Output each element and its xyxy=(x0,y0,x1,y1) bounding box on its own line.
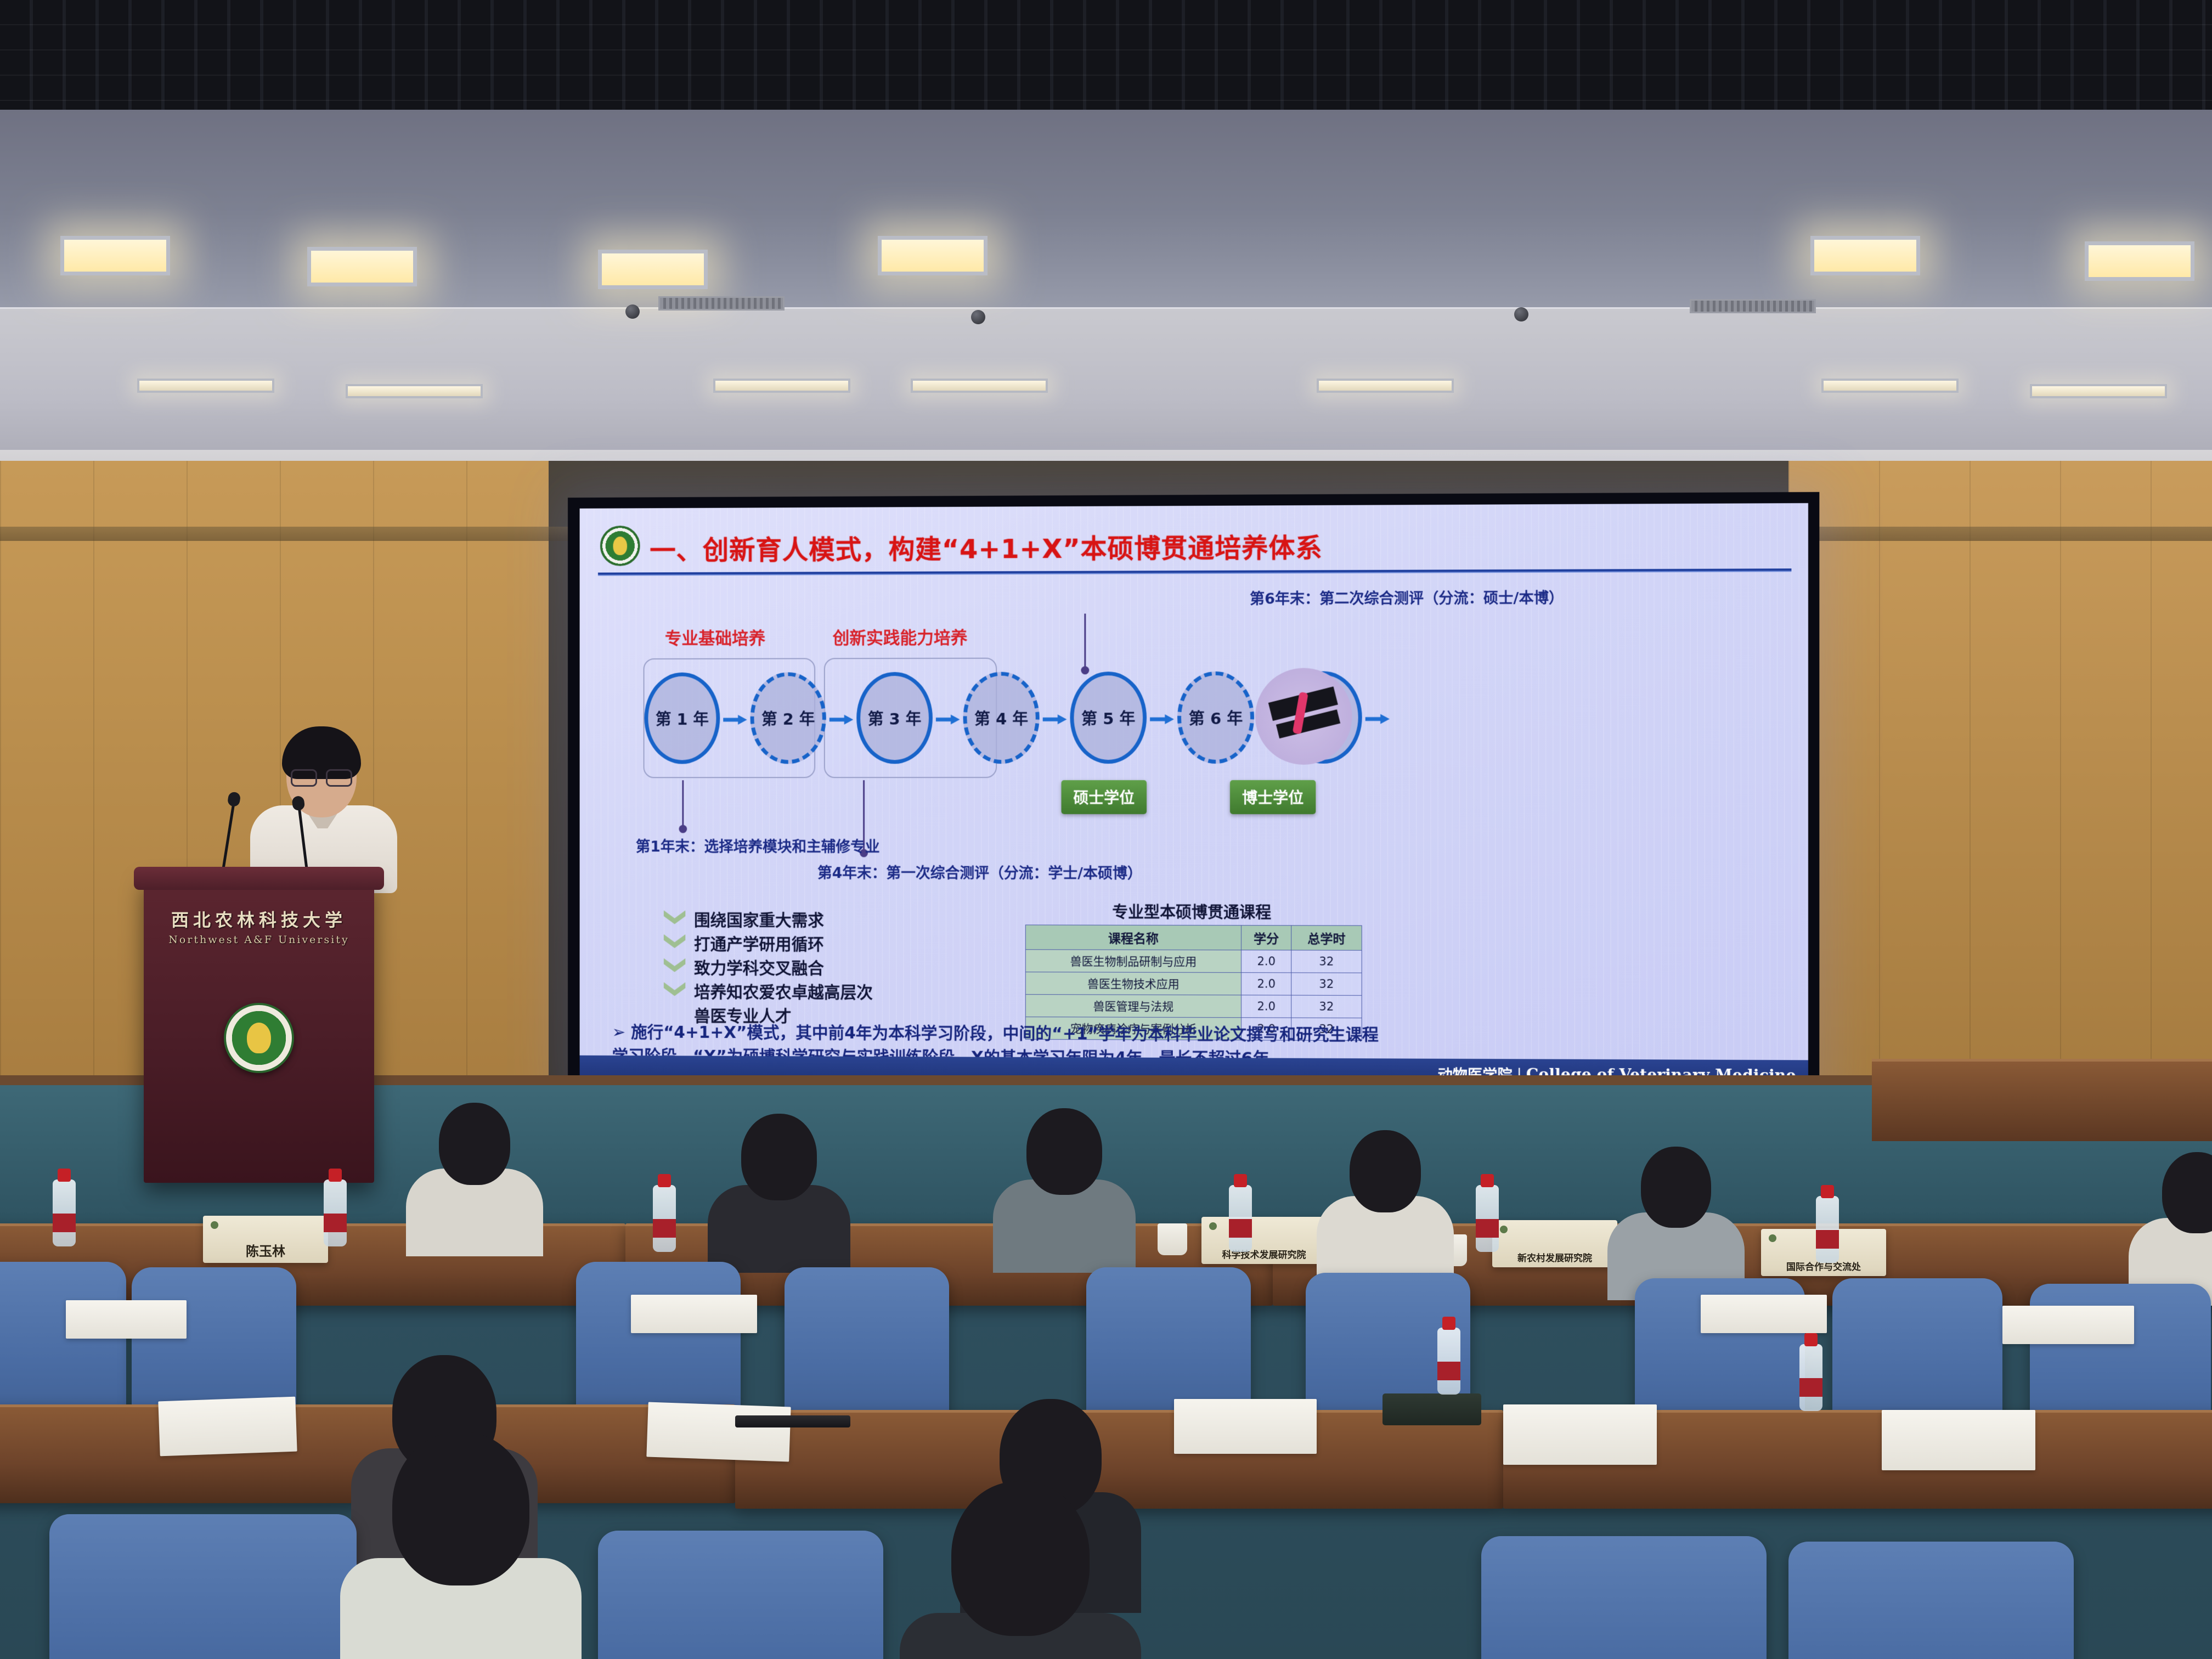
timeline-year-5: 第 5 年 xyxy=(1070,672,1147,764)
nameplate: 科学技术发展研究院 xyxy=(1201,1217,1327,1264)
bullet-marker-icon: ➢ xyxy=(612,1023,626,1042)
slide-title: 一、创新育人模式，构建“4+1+X”本硕博贯通培养体系 xyxy=(650,526,1322,567)
cell-hours: 32 xyxy=(1291,995,1362,1018)
bullet-text: 培养知农爱农卓越高层次 xyxy=(694,979,873,1003)
podium-university-en: Northwest A&F University xyxy=(158,934,360,946)
chair xyxy=(598,1531,883,1659)
bullet-text: 围绕国家重大需求 xyxy=(694,907,824,931)
podium: 西北农林科技大学 Northwest A&F University xyxy=(144,876,374,1183)
timeline-arrow-icon xyxy=(1043,714,1067,724)
handout-paper xyxy=(158,1397,297,1457)
glasses-icon xyxy=(291,769,352,785)
col-credits: 学分 xyxy=(1242,926,1291,950)
list-item: 培养知农爱农卓越高层次 xyxy=(664,978,873,1003)
timeline-year-2: 第 2 年 xyxy=(751,672,826,764)
handout-paper xyxy=(2002,1306,2134,1344)
col-course-name: 课程名称 xyxy=(1025,925,1242,950)
timeline-arrow-icon xyxy=(936,715,960,725)
person-head xyxy=(1026,1108,1102,1195)
timeline-year-4: 第 4 年 xyxy=(963,672,1040,764)
podium-sign: 西北农林科技大学 Northwest A&F University xyxy=(158,906,360,946)
handout-paper xyxy=(1174,1399,1317,1454)
strip-light-icon xyxy=(2030,384,2167,398)
chevron-down-icon xyxy=(664,910,685,927)
ceiling-upper xyxy=(0,110,2212,340)
timeline-year-3: 第 3 年 xyxy=(856,672,933,764)
bullet-list: 围绕国家重大需求 打通产学研用循环 致力学科交叉融合 培养知农爱农卓越高层次 xyxy=(664,906,873,1027)
year-label: 第 3 年 xyxy=(868,707,921,730)
graduation-cap-icon xyxy=(1255,668,1352,765)
header-divider xyxy=(598,568,1791,575)
note-year1: 第1年末：选择培养模块和主辅修专业 xyxy=(636,834,880,856)
status-badge-doctor: 博士学位 xyxy=(1230,780,1316,814)
audience-person xyxy=(2129,1147,2212,1289)
audience-person-foreground xyxy=(900,1476,1141,1659)
cell-course-name: 兽医管理与法规 xyxy=(1025,995,1242,1018)
bullet-text: 打通产学研用循环 xyxy=(694,930,824,955)
timeline-arrow-icon xyxy=(1365,714,1390,724)
ceiling-sensor-icon xyxy=(1514,307,1528,321)
status-badge-master: 硕士学位 xyxy=(1062,780,1147,814)
note-year6: 第6年末：第二次综合测评（分流：硕士/本博） xyxy=(1250,586,1564,608)
handout-paper xyxy=(1882,1410,2035,1470)
chair xyxy=(1788,1542,2074,1659)
strip-light-icon xyxy=(1821,379,1959,393)
ceiling-sensor-icon xyxy=(625,304,640,319)
ceiling-vent-icon xyxy=(1690,299,1816,313)
ceiling-light-icon xyxy=(598,250,708,289)
paper-cup-icon xyxy=(1158,1223,1187,1255)
bullet-text: 致力学科交叉融合 xyxy=(694,955,824,979)
nameplate: 新农村发展研究院 xyxy=(1492,1220,1617,1267)
side-table xyxy=(1872,1059,2212,1141)
water-bottle-icon xyxy=(653,1185,676,1252)
list-item: 打通产学研用循环 xyxy=(664,930,873,955)
presentation-screen: 一、创新育人模式，构建“4+1+X”本硕博贯通培养体系 第6年末：第二次综合测评… xyxy=(568,492,1819,1105)
laptop-icon xyxy=(735,1415,850,1427)
person-head xyxy=(392,1432,529,1585)
timeline-year-1: 第 1 年 xyxy=(645,673,720,764)
water-bottle-icon xyxy=(1816,1196,1839,1263)
nameplate-text: 陈玉林 xyxy=(246,1240,285,1260)
ceiling-dark-grid xyxy=(0,0,2212,126)
person-head xyxy=(1350,1130,1421,1212)
phase-label-2: 创新实践能力培养 xyxy=(833,624,968,648)
strip-light-icon xyxy=(713,379,850,393)
col-hours: 总学时 xyxy=(1291,926,1362,950)
year-label: 第 5 年 xyxy=(1081,706,1135,729)
podium-university-cn: 西北农林科技大学 xyxy=(158,906,360,932)
audience-person xyxy=(406,1097,543,1251)
strip-light-icon xyxy=(911,379,1048,393)
timeline-arrow-icon xyxy=(830,715,854,725)
university-emblem-icon xyxy=(600,526,640,566)
timeline: 第 1 年 第 2 年 第 3 年 第 4 年 第 5 年 第 6 年 第 9 … xyxy=(645,671,1353,770)
nameplate-text: 新农村发展研究院 xyxy=(1517,1250,1592,1264)
ceiling-light-icon xyxy=(307,247,417,286)
table-row: 兽医生物制品研制与应用 2.0 32 xyxy=(1025,950,1362,973)
nameplate: 陈玉林 xyxy=(203,1216,328,1263)
cell-course-name: 兽医生物制品研制与应用 xyxy=(1025,950,1242,973)
slide-header: 一、创新育人模式，构建“4+1+X”本硕博贯通培养体系 xyxy=(594,511,1793,577)
person-head xyxy=(2162,1152,2212,1233)
paragraph-line-1: 施行“4+1+X”模式，其中前4年为本科学习阶段，中间的“+1”学年为本科毕业论… xyxy=(631,1023,1379,1045)
table-title: 专业型本硕博贯通课程 xyxy=(1039,900,1346,923)
water-bottle-icon xyxy=(324,1180,347,1246)
wall-right-wood xyxy=(1788,461,2212,1092)
list-item: 致力学科交叉融合 xyxy=(664,955,873,979)
conference-hall-scene: 一、创新育人模式，构建“4+1+X”本硕博贯通培养体系 第6年末：第二次综合测评… xyxy=(0,0,2212,1659)
notebook-icon xyxy=(1383,1393,1481,1425)
ceiling-vent-icon xyxy=(658,296,785,311)
chevron-down-icon xyxy=(664,982,685,998)
audience-person xyxy=(708,1108,850,1262)
timeline-arrow-icon xyxy=(723,715,747,725)
ceiling-light-icon xyxy=(2085,241,2194,281)
water-bottle-icon xyxy=(1476,1185,1499,1252)
handout-paper xyxy=(1503,1404,1657,1465)
speaker-person xyxy=(247,723,400,888)
handout-paper xyxy=(631,1295,757,1333)
person-head xyxy=(951,1481,1090,1636)
ceiling-light-icon xyxy=(1810,236,1920,275)
chevron-down-icon xyxy=(664,934,685,951)
water-bottle-icon xyxy=(1799,1344,1822,1411)
water-bottle-icon xyxy=(1229,1185,1252,1252)
year-label: 第 6 年 xyxy=(1189,706,1243,729)
water-bottle-icon xyxy=(53,1180,76,1246)
podium-top xyxy=(134,867,384,890)
table-row: 兽医生物技术应用 2.0 32 xyxy=(1025,972,1362,996)
strip-light-icon xyxy=(137,379,274,393)
chair xyxy=(1481,1536,1767,1659)
strip-light-icon xyxy=(346,384,483,398)
note-year4: 第4年末：第一次综合测评（分流：学士/本硕博） xyxy=(817,861,1142,883)
chair xyxy=(49,1514,357,1659)
chevron-down-icon xyxy=(664,958,685,975)
strip-light-icon xyxy=(1317,379,1454,393)
cell-credits: 2.0 xyxy=(1242,973,1291,995)
cell-course-name: 兽医生物技术应用 xyxy=(1025,972,1242,995)
table-header-row: 课程名称 学分 总学时 xyxy=(1025,925,1362,950)
handout-paper xyxy=(1701,1295,1827,1333)
handout-paper xyxy=(646,1402,791,1462)
ceiling-light-icon xyxy=(60,236,170,275)
ceiling-sensor-icon xyxy=(971,310,985,324)
table-row: 兽医管理与法规 2.0 32 xyxy=(1025,995,1362,1018)
year-label: 第 4 年 xyxy=(974,706,1028,729)
person-head xyxy=(439,1103,510,1185)
person-head xyxy=(1641,1147,1711,1228)
timeline-year-6: 第 6 年 xyxy=(1177,672,1254,764)
cell-credits: 2.0 xyxy=(1242,995,1291,1018)
slide-surface: 一、创新育人模式，构建“4+1+X”本硕博贯通培养体系 第6年末：第二次综合测评… xyxy=(580,503,1808,1090)
cell-credits: 2.0 xyxy=(1242,950,1291,973)
audience-person xyxy=(993,1103,1136,1262)
cell-hours: 32 xyxy=(1291,950,1362,973)
person-head xyxy=(741,1114,817,1200)
leader-line-year1 xyxy=(682,780,684,826)
university-emblem-icon xyxy=(224,1003,294,1073)
audience-person xyxy=(1317,1125,1454,1273)
ceiling-light-icon xyxy=(878,236,988,275)
leader-line-year6 xyxy=(1084,614,1086,668)
year-label: 第 1 年 xyxy=(656,707,709,730)
year-label: 第 2 年 xyxy=(761,707,815,730)
timeline-arrow-icon xyxy=(1150,714,1174,724)
audience-person xyxy=(1607,1141,1745,1284)
phase-label-1: 专业基础培养 xyxy=(665,624,765,649)
list-item: 围绕国家重大需求 xyxy=(664,906,873,930)
handout-paper xyxy=(66,1300,187,1339)
audience-person-foreground xyxy=(340,1426,582,1659)
water-bottle-icon xyxy=(1437,1328,1460,1395)
cell-hours: 32 xyxy=(1291,973,1362,995)
